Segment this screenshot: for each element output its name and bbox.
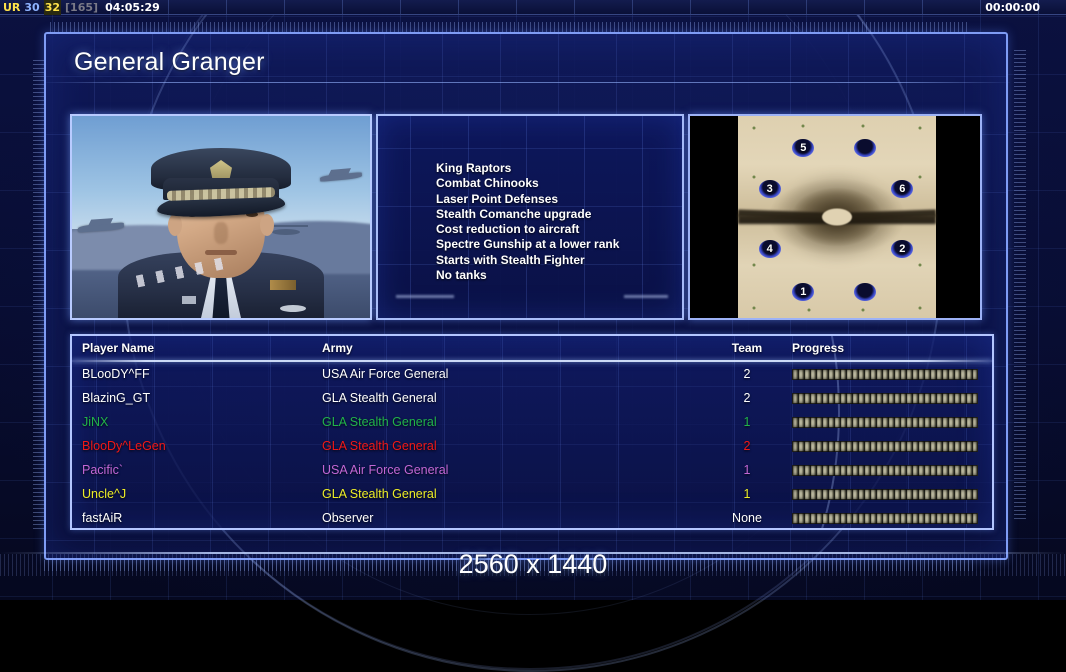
column-header-team: Team (702, 341, 792, 355)
status-bar: UR 30 32 [165] 04:05:29 00:00:00 (0, 0, 1066, 15)
cell-team: 1 (702, 487, 792, 501)
cell-team: 1 (702, 463, 792, 477)
cell-progress (792, 369, 992, 380)
table-row[interactable]: Pacific`USA Air Force General1 (72, 458, 992, 482)
list-item: Stealth Comanche upgrade (436, 207, 682, 222)
cell-player-name: Uncle^J (72, 487, 322, 501)
table-row[interactable]: BlooDy^LeGenGLA Stealth General2 (72, 434, 992, 458)
cell-player-name: Pacific` (72, 463, 322, 477)
cell-army: USA Air Force General (322, 367, 702, 381)
list-item: Spectre Gunship at a lower rank (436, 237, 682, 252)
mouth (205, 250, 237, 255)
map-start-position-marker[interactable]: 2 (891, 240, 913, 258)
pilot-wings-icon (280, 305, 306, 312)
general-portrait (70, 114, 372, 320)
map-image: 536421 (738, 116, 936, 318)
supply-point-icon (802, 125, 805, 128)
map-start-position-marker[interactable]: 1 (792, 283, 814, 301)
cell-progress (792, 417, 992, 428)
progress-bar (792, 489, 978, 500)
progress-bar (792, 513, 978, 524)
status-bar-grid (0, 0, 1066, 14)
supply-point-icon (752, 306, 755, 309)
cell-team: None (702, 511, 792, 525)
cell-team: 2 (702, 439, 792, 453)
cell-progress (792, 441, 992, 452)
cell-team: 1 (702, 415, 792, 429)
game-clock: 00:00:00 (985, 0, 1040, 15)
progress-bar (792, 441, 978, 452)
cell-progress (792, 393, 992, 404)
progress-bar (792, 369, 978, 380)
title-divider (46, 82, 1010, 83)
supply-point-icon (752, 127, 755, 130)
frame-count: [165] (65, 0, 98, 15)
cell-army: Observer (322, 511, 702, 525)
panel-glow-left (396, 295, 454, 298)
upper-section: King Raptors Combat Chinooks Laser Point… (70, 114, 994, 322)
map-start-position-marker[interactable] (854, 139, 876, 157)
cell-player-name: JiNX (72, 415, 322, 429)
cell-team: 2 (702, 391, 792, 405)
cell-progress (792, 513, 992, 524)
map-start-position-marker[interactable]: 5 (792, 139, 814, 157)
cell-player-name: BLooDY^FF (72, 367, 322, 381)
ear-left (168, 214, 182, 236)
lobby-panel: General Granger (44, 32, 1008, 560)
map-center-island (822, 209, 852, 226)
fps-value: 32 (44, 0, 61, 15)
cell-player-name: BlooDy^LeGen (72, 439, 322, 453)
progress-bar (792, 393, 978, 404)
table-row[interactable]: BLooDY^FFUSA Air Force General2 (72, 362, 992, 386)
supply-point-icon (752, 175, 755, 178)
ribbon-bar-icon (270, 280, 296, 290)
game-screen: UR 30 32 [165] 04:05:29 00:00:00 General… (0, 0, 1066, 600)
cell-progress (792, 489, 992, 500)
cell-player-name: fastAiR (72, 511, 322, 525)
cell-progress (792, 465, 992, 476)
list-item: King Raptors (436, 161, 682, 176)
table-row[interactable]: fastAiRObserverNone (72, 506, 992, 530)
abilities-list: King Raptors Combat Chinooks Laser Point… (378, 116, 682, 283)
list-item: No tanks (436, 268, 682, 283)
progress-bar (792, 417, 978, 428)
list-item: Starts with Stealth Fighter (436, 253, 682, 268)
column-header-player-name: Player Name (72, 341, 322, 355)
supply-point-icon (808, 308, 811, 311)
cell-army: GLA Stealth General (322, 415, 702, 429)
cell-army: GLA Stealth General (322, 391, 702, 405)
table-header-row: Player Name Army Team Progress (72, 336, 992, 360)
table-row[interactable]: JiNXGLA Stealth General1 (72, 410, 992, 434)
table-row[interactable]: Uncle^JGLA Stealth General1 (72, 482, 992, 506)
cell-player-name: BlazinG_GT (72, 391, 322, 405)
table-body: BLooDY^FFUSA Air Force General2BlazinG_G… (72, 362, 992, 530)
supply-point-icon (861, 308, 864, 311)
list-item: Cost reduction to aircraft (436, 222, 682, 237)
general-abilities-panel: King Raptors Combat Chinooks Laser Point… (376, 114, 684, 320)
map-start-position-marker[interactable]: 3 (759, 180, 781, 198)
us-insignia-icon (182, 296, 196, 304)
ping-value: 30 (24, 0, 39, 15)
supply-point-icon (919, 127, 922, 130)
session-time: 04:05:29 (105, 0, 160, 15)
ear-right (260, 214, 274, 236)
table-row[interactable]: BlazinG_GTGLA Stealth General2 (72, 386, 992, 410)
connection-label: UR (3, 0, 20, 15)
list-item: Combat Chinooks (436, 176, 682, 191)
player-table: Player Name Army Team Progress BLooDY^FF… (70, 334, 994, 530)
supply-point-icon (752, 264, 755, 267)
supply-point-icon (919, 175, 922, 178)
page-title: General Granger (74, 48, 265, 77)
panel-glow-right (624, 295, 668, 298)
cell-army: GLA Stealth General (322, 439, 702, 453)
list-item: Laser Point Defenses (436, 192, 682, 207)
ruler-right (1014, 50, 1026, 520)
map-start-position-marker[interactable]: 6 (891, 180, 913, 198)
general-figure (116, 140, 326, 318)
column-header-progress: Progress (792, 341, 992, 355)
cell-team: 2 (702, 367, 792, 381)
supply-point-icon (861, 125, 864, 128)
column-header-army: Army (322, 341, 702, 355)
map-start-position-marker[interactable]: 4 (759, 240, 781, 258)
map-start-position-marker[interactable] (854, 283, 876, 301)
cell-army: USA Air Force General (322, 463, 702, 477)
supply-point-icon (919, 306, 922, 309)
progress-bar (792, 465, 978, 476)
nose (214, 222, 228, 244)
cell-army: GLA Stealth General (322, 487, 702, 501)
supply-point-icon (919, 264, 922, 267)
map-preview[interactable]: 536421 (688, 114, 982, 320)
resolution-label: 2560 x 1440 (0, 549, 1066, 580)
